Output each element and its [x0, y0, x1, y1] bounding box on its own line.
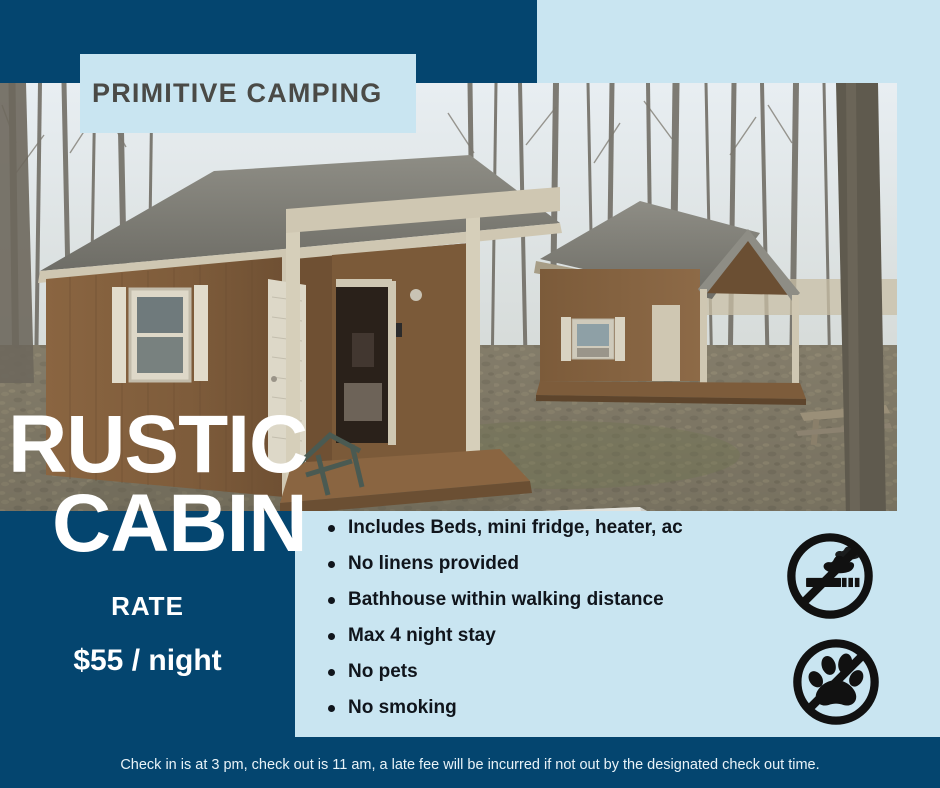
list-item: No smoking — [348, 698, 683, 717]
eyebrow-banner: PRIMITIVE CAMPING — [80, 54, 416, 133]
no-smoking-glyph — [784, 530, 876, 622]
rate-value: $55 / night — [0, 644, 295, 678]
list-item: No linens provided — [348, 554, 683, 573]
no-smoking-icon — [784, 530, 876, 622]
list-item: Max 4 night stay — [348, 626, 683, 645]
list-item: Bathhouse within walking distance — [348, 590, 683, 609]
eyebrow-label: PRIMITIVE CAMPING — [80, 78, 382, 109]
top-lightblue-band — [537, 0, 940, 83]
rate-block: RATE $55 / night — [0, 591, 295, 678]
feature-list: Includes Beds, mini fridge, heater, ac N… — [322, 518, 683, 734]
list-item: No pets — [348, 662, 683, 681]
page-title: RUSTIC CABIN — [0, 406, 300, 563]
right-lightblue-strip — [897, 83, 940, 517]
no-pets-icon — [790, 636, 882, 728]
list-item: Includes Beds, mini fridge, heater, ac — [348, 518, 683, 537]
title-line-rustic: RUSTIC — [0, 406, 300, 485]
footer-note: Check in is at 3 pm, check out is 11 am,… — [0, 757, 940, 773]
rate-label: RATE — [0, 591, 295, 622]
title-line-cabin: CABIN — [0, 485, 300, 564]
cabin-rate-poster: PRIMITIVE CAMPING RUSTIC CABIN RATE $55 … — [0, 0, 940, 788]
no-pets-glyph — [790, 636, 882, 728]
